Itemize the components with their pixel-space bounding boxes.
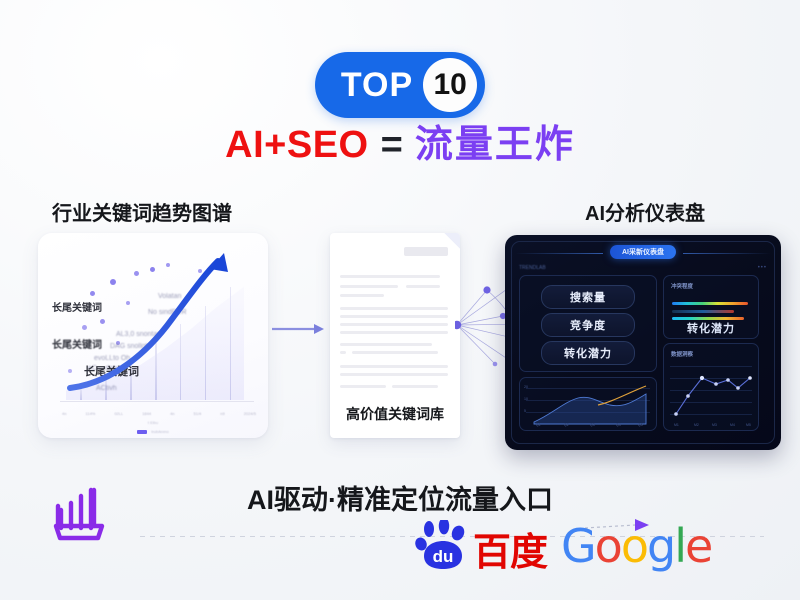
x-tick-0: 4n bbox=[62, 411, 66, 416]
headline-left: AI+SEO bbox=[225, 124, 368, 166]
bar-chart-icon bbox=[46, 482, 112, 544]
svg-text:du: du bbox=[433, 547, 454, 566]
x-tick-6: n9 bbox=[220, 411, 224, 416]
section-title-trend: 行业关键词趋势图谱 bbox=[52, 197, 232, 226]
legend-swatch bbox=[137, 430, 147, 434]
dashboard-menu-icon[interactable]: ••• bbox=[758, 265, 767, 271]
legend-label: trubAnmo bbox=[151, 429, 168, 434]
trend-chart-card: Volatan No sindPCR AL3,0 snontan DAG sno… bbox=[38, 233, 268, 438]
insight-line-panel: 数据洞察 M1 M2 M3 M4 M5 bbox=[663, 343, 759, 431]
baidu-wordmark: 百度 bbox=[473, 534, 547, 572]
dashboard-brand: TRENDLAB bbox=[519, 265, 546, 271]
insight-line-svg bbox=[664, 344, 758, 430]
keyword-library-doc: 高价值关键词库 bbox=[330, 233, 460, 438]
conversion-gradient-panel: 冲突程度 转化潜力 bbox=[663, 275, 759, 339]
headline-right: 流量王炸 bbox=[415, 124, 575, 166]
gradient-panel-overlay: 转化潜力 bbox=[664, 320, 758, 336]
doc-title: 高价值关键词库 bbox=[330, 404, 460, 424]
ai-dashboard: AI采新仪表盘 TRENDLAB ••• 搜索量 竞争度 转化潜力 20 10 … bbox=[505, 235, 781, 450]
x-tick-4: 4n bbox=[170, 411, 174, 416]
google-letter-o1: o bbox=[595, 519, 621, 573]
doc-header-chip bbox=[404, 247, 448, 256]
trend-subcaption: t Elbu bbox=[38, 420, 268, 425]
trend-legend: trubAnmo bbox=[38, 429, 268, 434]
dashboard-title-pill: AI采新仪表盘 bbox=[610, 245, 676, 259]
dashboard-header: AI采新仪表盘 bbox=[515, 245, 771, 261]
section-title-dashboard: AI分析仪表盘 bbox=[585, 197, 705, 226]
google-letter-l: l bbox=[674, 519, 685, 573]
metric-pill-competition[interactable]: 竞争度 bbox=[541, 313, 635, 337]
badge-top-label: TOP bbox=[341, 68, 413, 102]
x-tick-5: 51/4 bbox=[194, 411, 202, 416]
google-letter-o2: o bbox=[621, 519, 647, 573]
baidu-paw-icon: du bbox=[415, 520, 471, 572]
x-tick-2: 02LL bbox=[114, 411, 123, 416]
headline-equals: = bbox=[381, 124, 403, 166]
badge-number: 10 bbox=[423, 58, 477, 112]
gradient-bar-2 bbox=[672, 310, 734, 313]
gradient-bar-1 bbox=[672, 302, 748, 305]
google-letter-g2: g bbox=[647, 519, 674, 573]
metric-pill-conversion[interactable]: 转化潜力 bbox=[541, 341, 635, 365]
poster-canvas: TOP 10 AI+SEO=流量王炸 行业关键词趋势图谱 AI分析仪表盘 bbox=[0, 0, 800, 600]
metric-pill-search-volume[interactable]: 搜索量 bbox=[541, 285, 635, 309]
baidu-logo: du 百度 bbox=[415, 520, 547, 572]
keyword-metrics-panel: 搜索量 竞争度 转化潜力 bbox=[519, 275, 657, 372]
top-badge-wrap: TOP 10 bbox=[0, 52, 800, 118]
trend-x-ticks: 4n 114% 02LL 1844 4n 51/4 n9 2024/5 bbox=[62, 411, 256, 416]
trend-x-axis bbox=[60, 401, 254, 402]
flow-arrow-icon bbox=[272, 323, 324, 335]
google-letter-e: e bbox=[685, 519, 711, 573]
trend-chart-inner: Volatan No sindPCR AL3,0 snontan DAG sno… bbox=[38, 233, 268, 438]
google-logo: Google bbox=[561, 523, 711, 569]
top-10-badge: TOP 10 bbox=[315, 52, 485, 118]
footer-tagline: AI驱动·精准定位流量入口 bbox=[0, 478, 800, 517]
x-tick-3: 1844 bbox=[142, 411, 151, 416]
x-tick-1: 114% bbox=[85, 411, 95, 416]
area-chart-panel: 20 10 5 Q1 Q2 Q3 Q4 Q5 bbox=[519, 377, 657, 431]
headline: AI+SEO=流量王炸 bbox=[0, 125, 800, 167]
gradient-panel-label: 冲突程度 bbox=[671, 282, 693, 290]
search-engine-logos: du 百度 Google bbox=[415, 520, 711, 572]
trend-arrow-icon bbox=[38, 233, 268, 438]
x-tick-7: 2024/5 bbox=[244, 411, 256, 416]
google-letter-g1: G bbox=[561, 519, 595, 573]
